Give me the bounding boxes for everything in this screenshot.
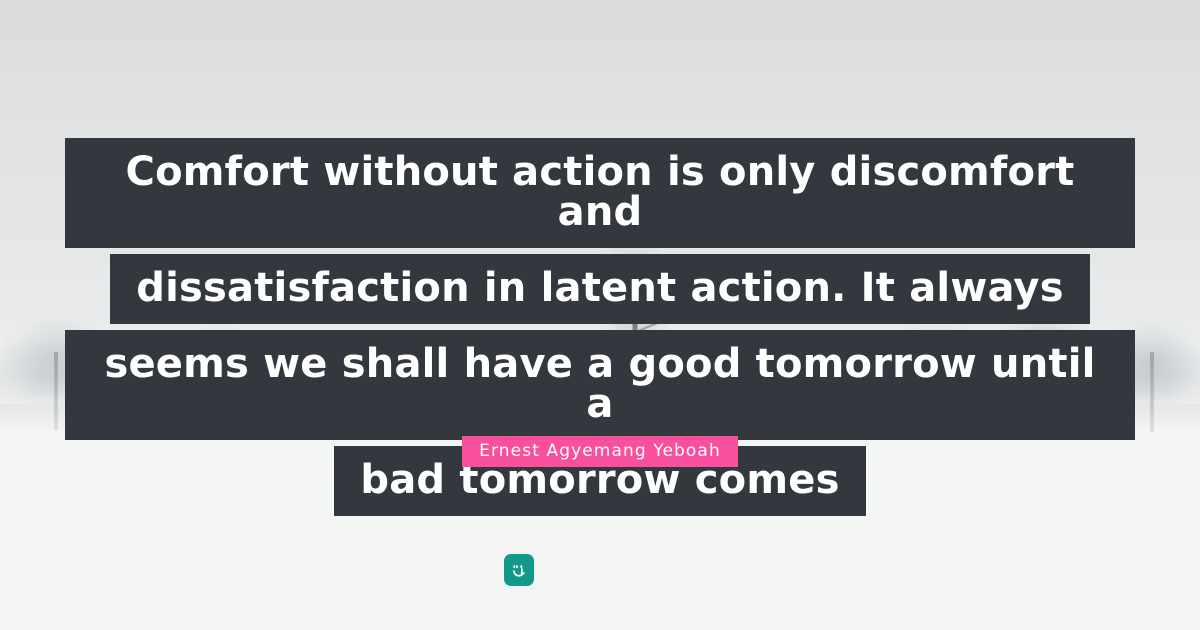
- quote-smiley-icon: [504, 554, 534, 586]
- brand-name-label: QuotesLyfe: [541, 558, 695, 583]
- brand-watermark: QuotesLyfe: [0, 554, 1200, 586]
- quote-line: seems we shall have a good tomorrow unti…: [65, 330, 1135, 440]
- quote-line: Comfort without action is only discomfor…: [65, 138, 1135, 248]
- quote-line: dissatisfaction in latent action. It alw…: [110, 254, 1089, 324]
- author-name-badge: Ernest Agyemang Yeboah: [462, 436, 738, 467]
- quote-image-card: Comfort without action is only discomfor…: [0, 0, 1200, 630]
- author-attribution: Ernest Agyemang Yeboah: [0, 436, 1200, 467]
